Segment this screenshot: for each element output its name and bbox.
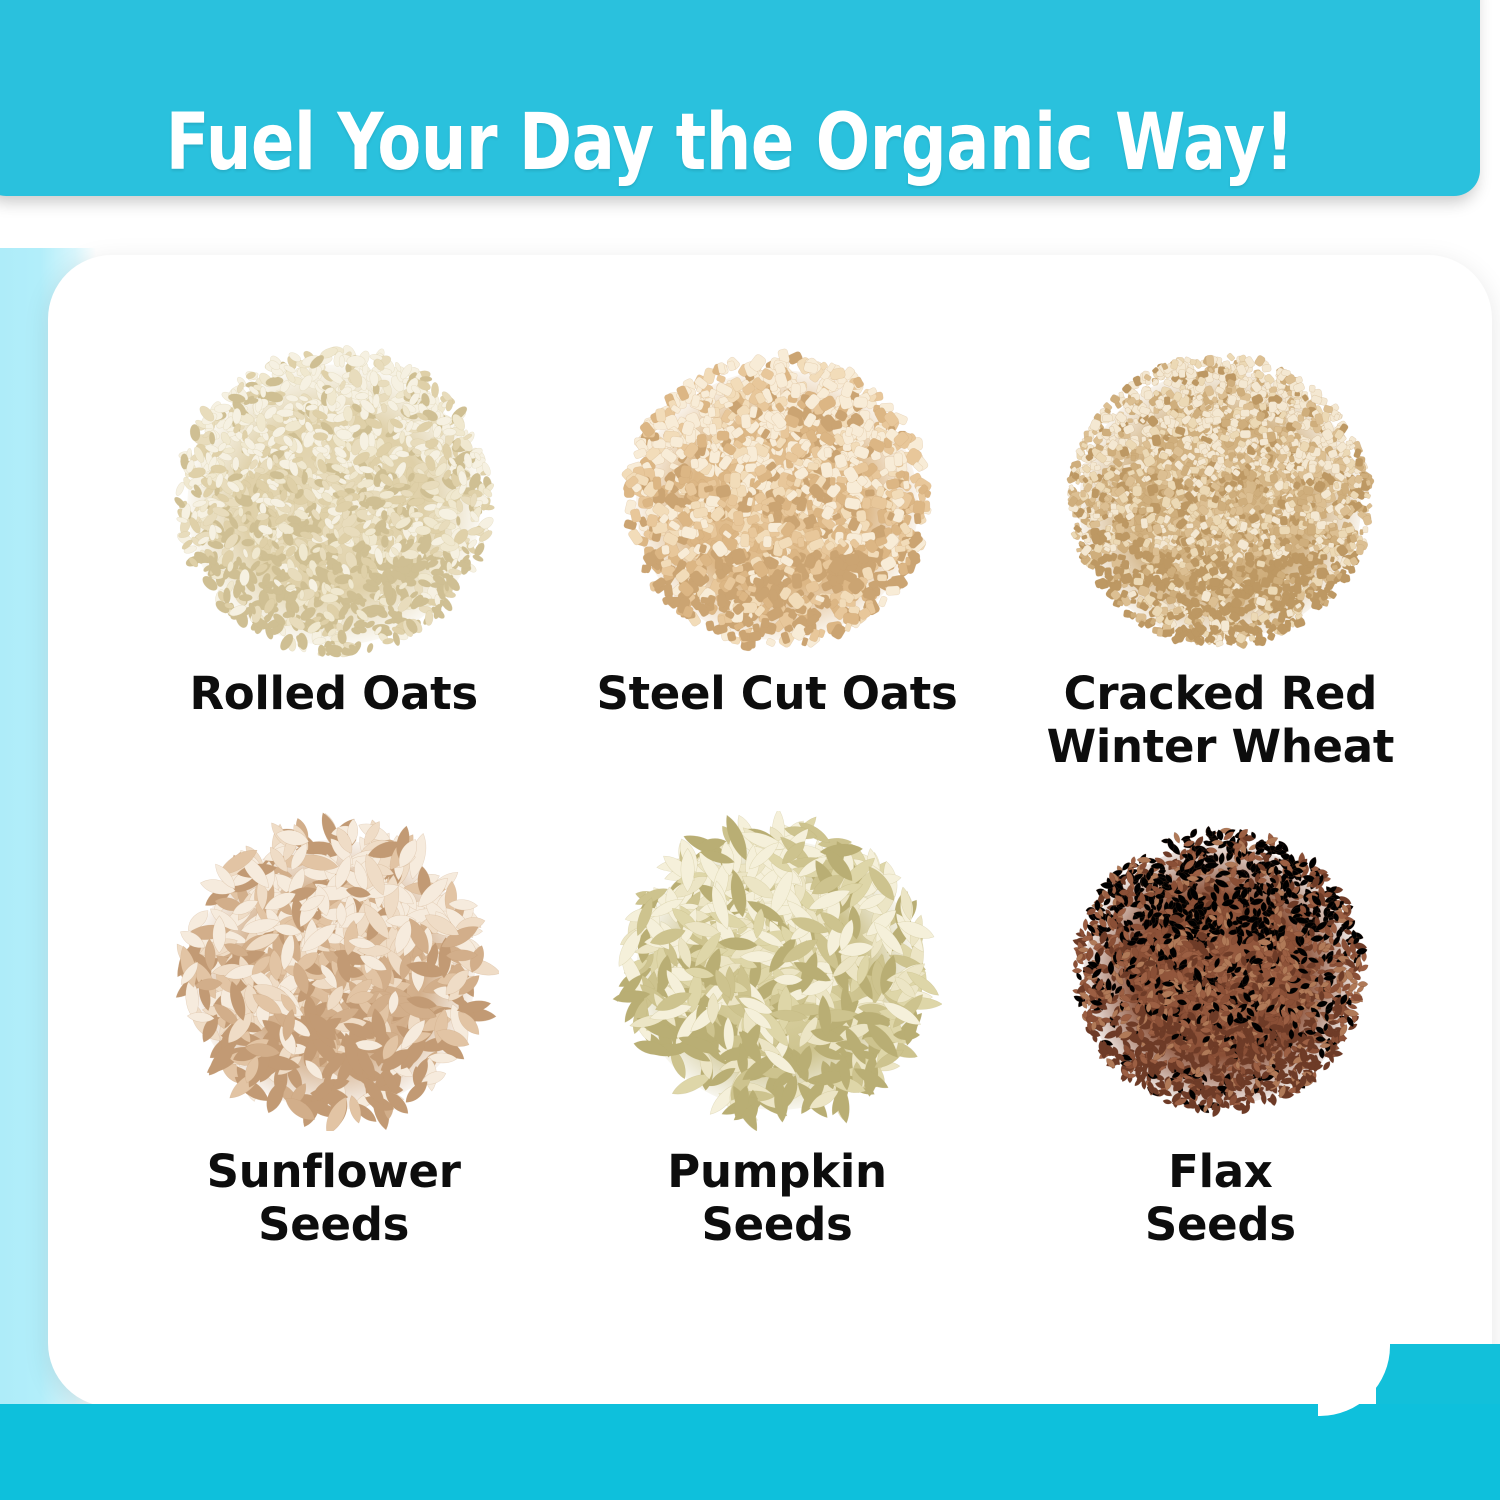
steel-cut-oats-pile-wrap <box>612 341 942 661</box>
flax-seeds-pile <box>1055 811 1385 1131</box>
sunflower-seeds-pile <box>169 811 499 1131</box>
rolled-oats-pile-wrap <box>169 341 499 661</box>
product-label: Flax Seeds <box>1145 1145 1296 1251</box>
pumpkin-seeds-pile <box>612 811 942 1131</box>
sunflower-seeds-pile-wrap <box>169 811 499 1131</box>
product-cell-sunflower-seeds[interactable]: Sunflower Seeds <box>112 811 555 1281</box>
product-grid: Rolled Oats Steel Cut Oats Cracked Red W… <box>112 341 1442 1281</box>
page-title: Fuel Your Day the Organic Way! <box>166 104 1294 182</box>
header-banner: Fuel Your Day the Organic Way! <box>0 0 1480 196</box>
product-label: Sunflower Seeds <box>207 1145 461 1251</box>
product-label: Cracked Red Winter Wheat <box>1047 667 1394 773</box>
product-cell-cracked-red-winter-wheat[interactable]: Cracked Red Winter Wheat <box>999 341 1442 811</box>
bottom-cyan-bar <box>0 1404 1500 1500</box>
pumpkin-seeds-pile-wrap <box>612 811 942 1131</box>
steel-cut-oats-pile <box>612 341 942 661</box>
product-cell-flax-seeds[interactable]: Flax Seeds <box>999 811 1442 1281</box>
product-cell-steel-cut-oats[interactable]: Steel Cut Oats <box>555 341 998 811</box>
flax-seeds-pile-wrap <box>1055 811 1385 1131</box>
product-label: Pumpkin Seeds <box>667 1145 886 1251</box>
product-card: Rolled Oats Steel Cut Oats Cracked Red W… <box>48 255 1492 1407</box>
poster-canvas: Fuel Your Day the Organic Way! Rolled Oa… <box>0 0 1500 1500</box>
cracked-red-winter-wheat-pile <box>1055 341 1385 661</box>
product-label: Rolled Oats <box>189 667 477 720</box>
cracked-red-winter-wheat-pile-wrap <box>1055 341 1385 661</box>
product-cell-rolled-oats[interactable]: Rolled Oats <box>112 341 555 811</box>
rolled-oats-pile <box>169 341 499 661</box>
product-label: Steel Cut Oats <box>596 667 957 720</box>
product-cell-pumpkin-seeds[interactable]: Pumpkin Seeds <box>555 811 998 1281</box>
